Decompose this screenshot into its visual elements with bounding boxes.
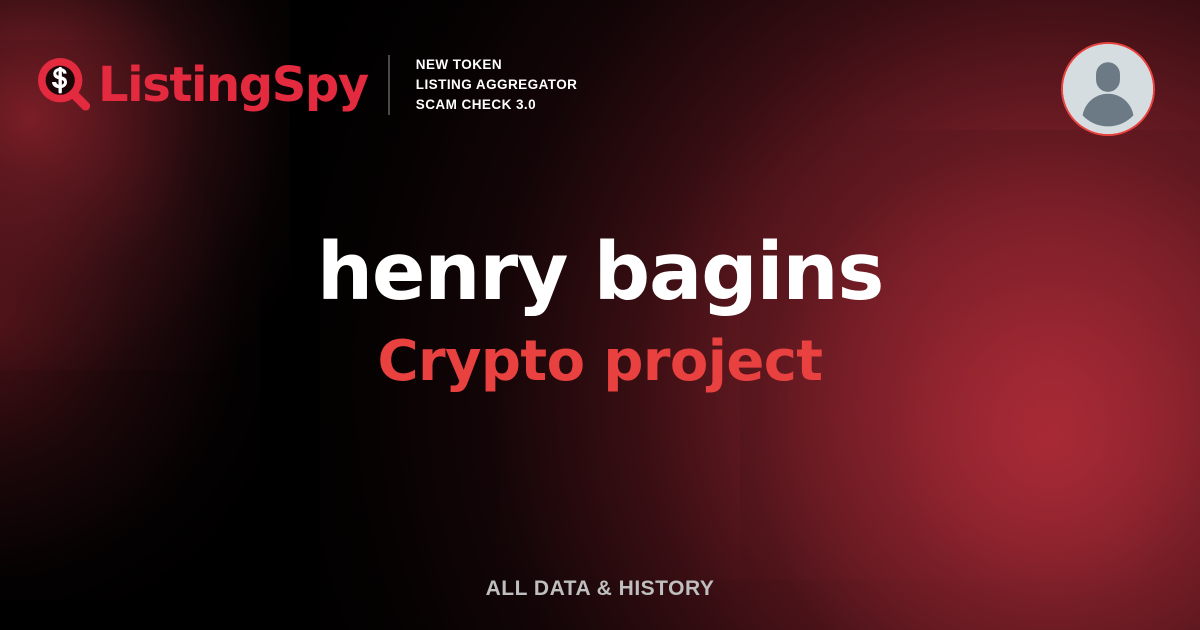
tagline-line-1: NEW TOKEN <box>416 56 578 74</box>
brand-mark[interactable]: ListingSpy <box>36 56 368 114</box>
brand-tagline: NEW TOKEN LISTING AGGREGATOR SCAM CHECK … <box>416 56 578 113</box>
header-divider <box>388 55 390 115</box>
brand-wordmark: ListingSpy <box>98 61 368 109</box>
user-avatar-placeholder-icon <box>1063 44 1153 134</box>
tagline-line-2: LISTING AGGREGATOR <box>416 76 578 94</box>
magnifier-dollar-icon <box>36 56 94 114</box>
footer-text: ALL DATA & HISTORY <box>486 577 715 600</box>
page-subtitle: Crypto project <box>318 330 883 394</box>
tagline-line-3: SCAM CHECK 3.0 <box>416 96 578 114</box>
page-header: ListingSpy NEW TOKEN LISTING AGGREGATOR … <box>0 0 1200 178</box>
og-share-card: ListingSpy NEW TOKEN LISTING AGGREGATOR … <box>0 0 1200 630</box>
footer: ALL DATA & HISTORY <box>0 577 1200 601</box>
avatar[interactable] <box>1061 42 1155 136</box>
page-title: henry bagins <box>257 229 943 316</box>
brand-logo[interactable]: ListingSpy NEW TOKEN LISTING AGGREGATOR … <box>36 55 577 115</box>
